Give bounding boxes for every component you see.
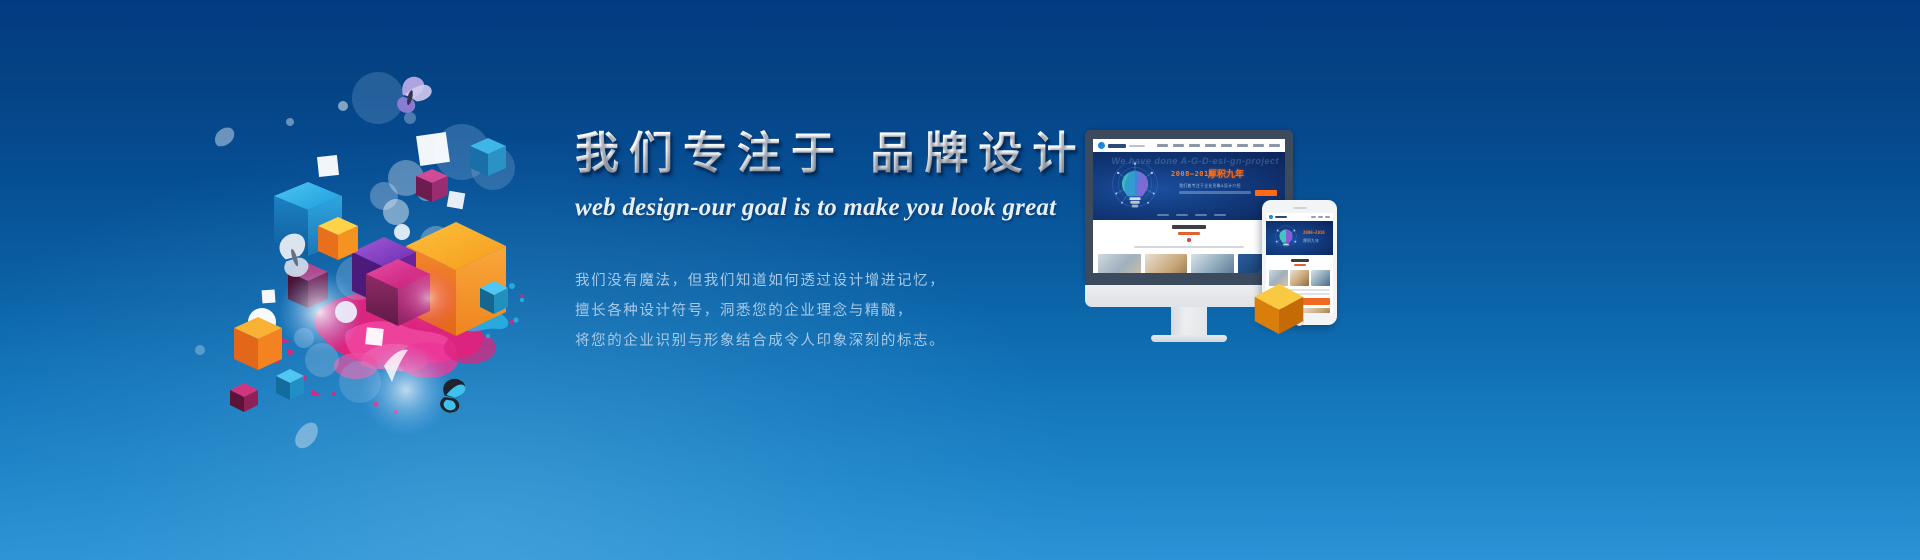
hero-cta-button[interactable] — [1255, 190, 1277, 196]
phone-speaker — [1293, 207, 1307, 209]
phone-section-title — [1291, 259, 1309, 262]
phone-nav-item — [1318, 216, 1323, 218]
section-description — [1134, 246, 1244, 248]
phone-hero-year: 2008—2016 — [1303, 230, 1325, 235]
site-navbar — [1093, 139, 1285, 152]
hero-headline: 厚积九年 — [1208, 167, 1244, 180]
phone-lightbulb-icon — [1272, 223, 1300, 251]
thumbnail-item[interactable] — [1145, 254, 1188, 273]
site-nav-items — [1157, 144, 1280, 147]
phone-hero-headline: 厚积九年 — [1303, 238, 1319, 244]
orange-cube-bottom-left — [234, 317, 282, 370]
site-logo-subtext — [1129, 145, 1145, 147]
site-hero: We have done A-G-D-esi-gn-project — [1093, 152, 1285, 220]
magenta-cube-small — [416, 169, 448, 202]
imac-stand-neck — [1171, 307, 1207, 335]
phone-nav-item — [1311, 216, 1316, 218]
nav-item — [1237, 144, 1248, 147]
nav-item — [1157, 144, 1168, 147]
teal-cube-small — [470, 138, 506, 176]
thumbnail-item[interactable] — [1098, 254, 1141, 273]
hero-tagline: 我们着专注于企业形象&设计介绍 — [1179, 183, 1241, 189]
phone-hero: 2008—2016 厚积九年 — [1266, 221, 1333, 255]
phone-section-subtitle — [1294, 264, 1306, 266]
site-logo-icon — [1098, 142, 1105, 149]
abstract-artwork — [170, 60, 550, 440]
yellow-cube-small — [318, 217, 358, 260]
thumbnail-item[interactable] — [1191, 254, 1234, 273]
carousel-dot[interactable] — [1157, 214, 1169, 216]
nav-item — [1205, 144, 1216, 147]
nav-item — [1269, 144, 1280, 147]
section-subtitle — [1178, 232, 1200, 235]
thumbnail-grid — [1098, 254, 1280, 273]
section-title — [1172, 225, 1206, 229]
teal-cube-bottom — [276, 369, 304, 400]
orange-cube-accent — [1253, 282, 1305, 336]
imac-stand-foot — [1151, 335, 1227, 342]
nav-item — [1173, 144, 1184, 147]
feather-shape — [215, 128, 234, 147]
hero-banner: 我们专注于 品牌设计 web design-our goal is to mak… — [0, 0, 1920, 560]
imac-screen: We have done A-G-D-esi-gn-project — [1093, 139, 1285, 273]
glow-bottom — [360, 344, 452, 436]
hero-carousel-dots[interactable] — [1157, 214, 1226, 216]
hero-divider — [1179, 191, 1251, 194]
carousel-dot[interactable] — [1195, 214, 1207, 216]
site-logo-text — [1108, 144, 1126, 148]
carousel-dot[interactable] — [1214, 214, 1226, 216]
phone-logo-icon — [1269, 215, 1273, 219]
phone-nav-item — [1325, 216, 1330, 218]
glow-pink — [394, 264, 462, 332]
phone-logo-text — [1275, 216, 1287, 218]
phone-navbar — [1266, 213, 1333, 221]
site-body — [1093, 220, 1285, 273]
carousel-dot[interactable] — [1176, 214, 1188, 216]
glow-left — [278, 270, 362, 354]
nav-item — [1221, 144, 1232, 147]
phone-thumbnail[interactable] — [1311, 270, 1330, 286]
lightbulb-network-icon — [1107, 158, 1163, 214]
feather-shape-2 — [295, 423, 318, 449]
phone-nav-items — [1311, 216, 1330, 218]
section-accent-dot — [1187, 238, 1191, 242]
nav-item — [1189, 144, 1200, 147]
crimson-cube-bottom — [230, 383, 258, 412]
nav-item — [1253, 144, 1264, 147]
device-mockups: We have done A-G-D-esi-gn-project — [1085, 130, 1355, 330]
cyan-cube-right — [480, 281, 508, 314]
